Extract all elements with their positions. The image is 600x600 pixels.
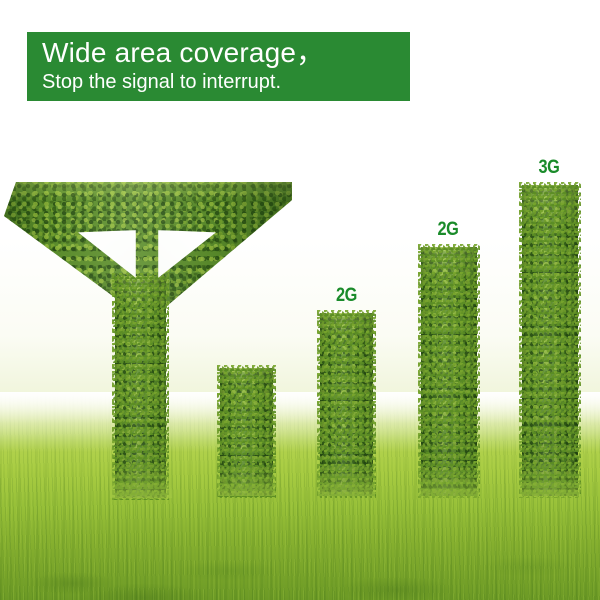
signal-bar-3-shading — [421, 247, 477, 496]
signal-bar-2-shading — [320, 313, 373, 496]
signal-bar-2 — [320, 313, 373, 496]
headline-text: Wide area coverage， — [42, 36, 402, 69]
headline-banner-text-block: Wide area coverage， Stop the signal to i… — [42, 36, 402, 95]
poster-canvas: 2G 2G 3G Wide area coverage， Stop the si… — [0, 0, 600, 600]
signal-bar-label-2g-first: 2G — [328, 286, 365, 305]
headline-banner: Wide area coverage， Stop the signal to i… — [27, 32, 410, 101]
signal-bar-label-3g: 3G — [530, 158, 568, 177]
signal-bar-1-shading — [220, 368, 273, 496]
signal-bar-label-2g-second: 2G — [429, 220, 467, 239]
subheadline-text: Stop the signal to interrupt. — [42, 69, 402, 95]
signal-bar-4-shading — [522, 185, 578, 496]
antenna-base-fade — [110, 458, 172, 498]
signal-bar-4 — [522, 185, 578, 496]
signal-bar-1 — [220, 368, 273, 496]
signal-bar-3 — [421, 247, 477, 496]
